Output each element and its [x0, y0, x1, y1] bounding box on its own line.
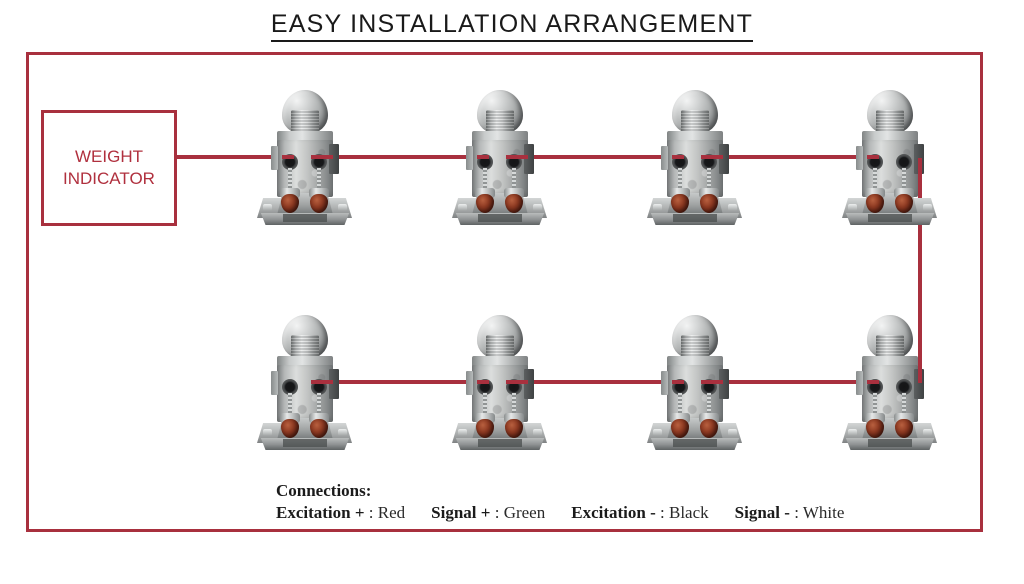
side-tab-right — [524, 144, 534, 174]
wire-entry-cell3-left — [672, 155, 684, 159]
wire-entry-cell8-down — [918, 345, 922, 383]
load-cell-2[interactable] — [450, 90, 550, 225]
side-tab-right — [719, 369, 729, 399]
legend-item-signal-minus: Signal - : White — [735, 503, 845, 522]
load-cell-graphic — [645, 315, 745, 450]
legend-label-excitation-minus: Excitation - — [571, 503, 656, 522]
weight-indicator-box[interactable]: WEIGHT INDICATOR — [41, 110, 177, 226]
mount-bolt-right — [533, 204, 542, 211]
wire-entry-cell6-left — [477, 380, 489, 384]
base-notch — [673, 439, 717, 447]
load-cell-graphic — [255, 90, 355, 225]
mount-bolt-left — [653, 204, 662, 211]
base-notch — [283, 439, 327, 447]
legend-value-signal-minus: White — [803, 503, 845, 522]
base-notch — [868, 439, 912, 447]
legend-value-signal-plus: Green — [504, 503, 546, 522]
side-tab-left — [661, 146, 668, 170]
load-cell-graphic — [255, 315, 355, 450]
load-cell-5[interactable] — [255, 315, 355, 450]
legend-item-signal-plus: Signal + : Green — [431, 503, 545, 522]
mount-bolt-left — [848, 204, 857, 211]
page-title-text: EASY INSTALLATION ARRANGEMENT — [271, 10, 753, 42]
wire-exit-cell1-right — [311, 155, 333, 159]
mount-bolt-left — [263, 429, 272, 436]
mount-bolt-right — [338, 429, 347, 436]
load-cell-graphic — [840, 90, 940, 225]
load-cell-1[interactable] — [255, 90, 355, 225]
base-notch — [478, 439, 522, 447]
wire-entry-cell7-left — [672, 380, 684, 384]
mount-bolt-left — [458, 204, 467, 211]
wire-exit-cell5-right — [311, 380, 333, 384]
weight-indicator-label: WEIGHT INDICATOR — [63, 146, 155, 190]
page-title: EASY INSTALLATION ARRANGEMENT — [0, 10, 1024, 39]
wire-exit-cell7-right — [701, 380, 723, 384]
legend-items-row: Excitation + : RedSignal + : GreenExcita… — [276, 501, 844, 524]
side-tab-left — [466, 146, 473, 170]
base-notch — [868, 214, 912, 222]
base-notch — [283, 214, 327, 222]
legend-label-excitation-plus: Excitation + — [276, 503, 365, 522]
base-notch — [673, 214, 717, 222]
load-cell-graphic — [840, 315, 940, 450]
side-tab-right — [329, 144, 339, 174]
load-cell-6[interactable] — [450, 315, 550, 450]
mount-bolt-right — [923, 429, 932, 436]
wire-exit-cell2-right — [506, 155, 528, 159]
legend-title: Connections: — [276, 480, 844, 501]
legend-item-excitation-plus: Excitation + : Red — [276, 503, 405, 522]
wire-entry-cell4-left — [867, 155, 879, 159]
legend-sep-1: : — [490, 503, 503, 522]
wire-exit-cell6-right — [506, 380, 528, 384]
diagram-canvas: EASY INSTALLATION ARRANGEMENT WEIGHT IND… — [0, 0, 1024, 584]
load-cell-8[interactable] — [840, 315, 940, 450]
legend-item-excitation-minus: Excitation - : Black — [571, 503, 708, 522]
wire-entry-cell8-left — [867, 380, 879, 384]
mount-bolt-left — [848, 429, 857, 436]
legend-value-excitation-plus: Red — [378, 503, 405, 522]
base-notch — [478, 214, 522, 222]
side-tab-right — [719, 144, 729, 174]
side-tab-left — [271, 371, 278, 395]
legend-label-signal-plus: Signal + — [431, 503, 490, 522]
mount-bolt-left — [653, 429, 662, 436]
mount-bolt-right — [923, 204, 932, 211]
side-tab-right — [524, 369, 534, 399]
load-cell-graphic — [645, 90, 745, 225]
wire-exit-cell3-right — [701, 155, 723, 159]
side-tab-left — [466, 371, 473, 395]
mount-bolt-right — [728, 204, 737, 211]
side-tab-left — [661, 371, 668, 395]
load-cell-graphic — [450, 315, 550, 450]
load-cell-graphic — [450, 90, 550, 225]
wire-entry-cell2-left — [477, 155, 489, 159]
legend-sep-3: : — [790, 503, 803, 522]
wire-exit-cell4-down — [918, 158, 922, 190]
side-tab-left — [856, 371, 863, 395]
legend-value-excitation-minus: Black — [669, 503, 709, 522]
load-cell-7[interactable] — [645, 315, 745, 450]
connections-legend: Connections: Excitation + : RedSignal + … — [276, 480, 844, 524]
mount-bolt-right — [728, 429, 737, 436]
legend-label-signal-minus: Signal - — [735, 503, 790, 522]
load-cell-3[interactable] — [645, 90, 745, 225]
wire-entry-cell1-left — [282, 155, 294, 159]
mount-bolt-right — [533, 429, 542, 436]
mount-bolt-left — [458, 429, 467, 436]
mount-bolt-right — [338, 204, 347, 211]
load-cell-4[interactable] — [840, 90, 940, 225]
side-tab-right — [329, 369, 339, 399]
weight-indicator-line1: WEIGHT — [63, 146, 155, 168]
side-tab-left — [856, 146, 863, 170]
mount-bolt-left — [263, 204, 272, 211]
side-tab-left — [271, 146, 278, 170]
legend-sep-2: : — [656, 503, 669, 522]
legend-sep-0: : — [365, 503, 378, 522]
weight-indicator-line2: INDICATOR — [63, 168, 155, 190]
